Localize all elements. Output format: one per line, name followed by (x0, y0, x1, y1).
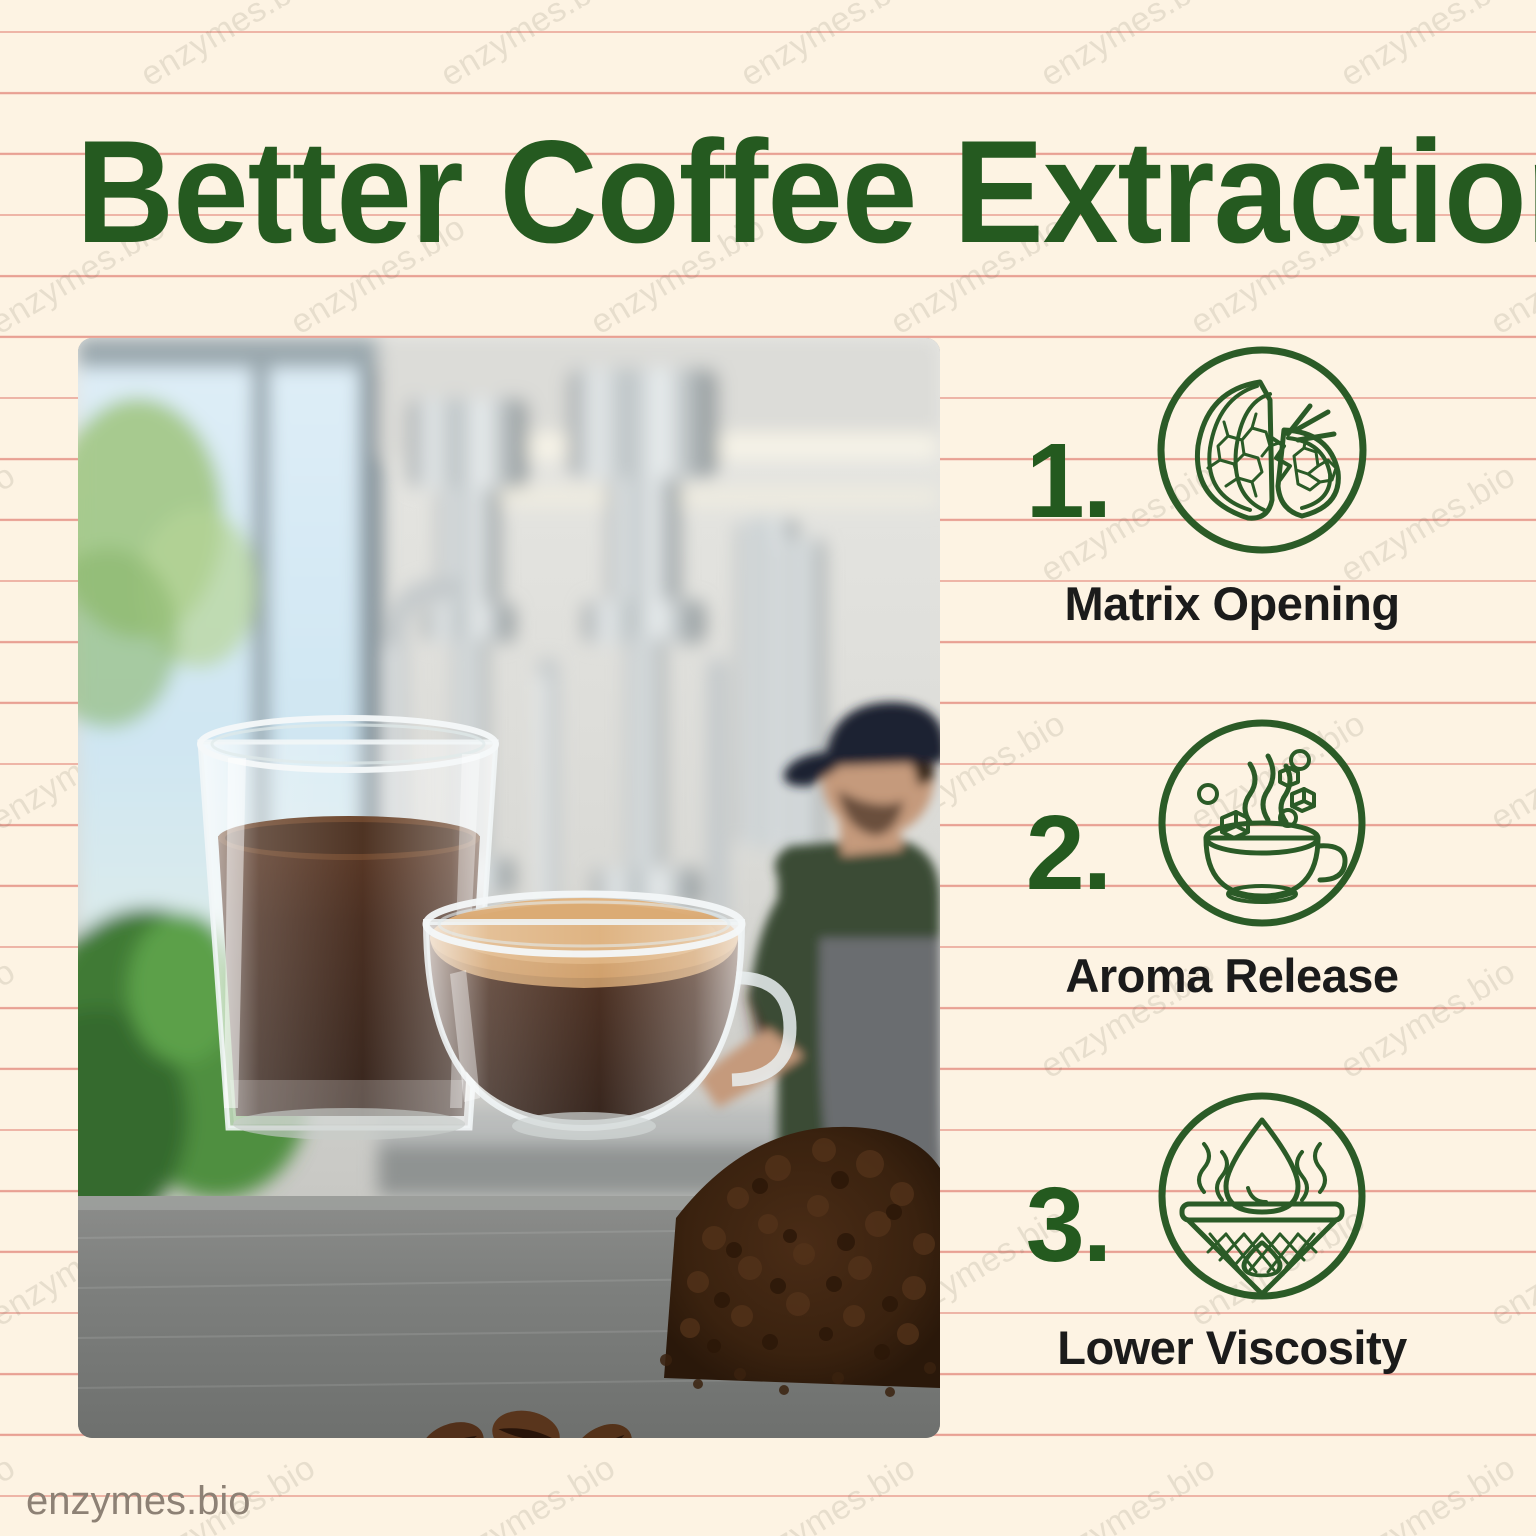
watermark-text: enzymes.bio (0, 456, 22, 591)
step-label-3: Lower Viscosity (960, 1320, 1504, 1376)
coffee-bean-cracking-icon (1152, 338, 1372, 568)
photo-illustration (78, 338, 940, 1438)
step-number-3: 3. (1008, 1172, 1128, 1278)
page-title: Better Coffee Extraction (76, 112, 1371, 272)
step-number-1: 1. (1008, 428, 1128, 534)
watermark-text: enzymes.bio (1034, 0, 1222, 95)
watermark-text: enzymes.bio (0, 952, 22, 1087)
watermark-text: enzymes.bio (734, 0, 922, 95)
watermark-text: enzymes.bio (734, 1448, 922, 1536)
watermark-text: enzymes.bio (1334, 0, 1522, 95)
watermark-text: enzymes.bio (1334, 1448, 1522, 1536)
watermark-text: enzymes.bio (434, 0, 622, 95)
steaming-coffee-cup-icon (1152, 710, 1372, 940)
step-label-2: Aroma Release (960, 948, 1504, 1004)
filter-droplet-icon (1152, 1082, 1372, 1312)
coffee-extraction-photo (78, 338, 940, 1438)
step-label-1: Matrix Opening (960, 576, 1504, 632)
benefit-steps-list: 1. (960, 338, 1504, 1448)
step-item-1: 1. (960, 338, 1504, 688)
step-number-2: 2. (1008, 800, 1128, 906)
watermark-text: enzymes.bio (1034, 1448, 1222, 1536)
watermark-text: enzymes.bio (134, 0, 322, 95)
step-item-3: 3. (960, 1082, 1504, 1432)
infographic-page: enzymes.bioenzymes.bioenzymes.bioenzymes… (0, 0, 1536, 1536)
watermark-text: enzymes.bio (0, 1448, 22, 1536)
footer-brand-text: enzymes.bio (26, 1479, 251, 1523)
watermark-text: enzymes.bio (0, 0, 22, 95)
watermark-text: enzymes.bio (434, 1448, 622, 1536)
step-item-2: 2. (960, 710, 1504, 1060)
